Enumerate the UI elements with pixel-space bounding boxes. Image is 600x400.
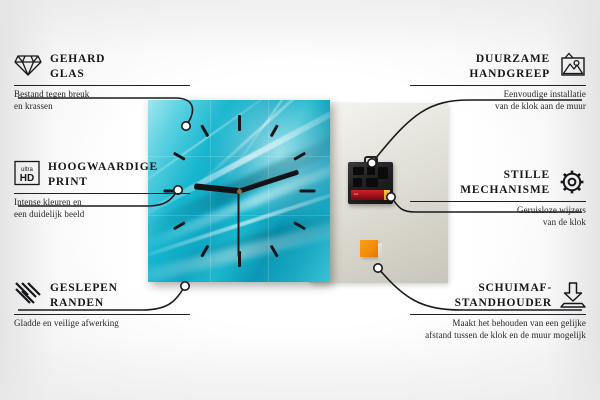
feature-divider — [410, 201, 586, 202]
feature-description: Maakt het behouden van een gelijke afsta… — [410, 318, 586, 342]
feature-divider — [14, 193, 190, 194]
feature-divider — [14, 314, 190, 315]
feature-title: GEHARD GLAS — [50, 52, 105, 82]
infographic-stage: AA — [0, 0, 600, 400]
product-photo: AA — [148, 100, 448, 286]
mechanism-detail — [366, 178, 378, 187]
clock-hub — [237, 189, 242, 194]
feature-divider — [410, 85, 586, 86]
feature-header: GEHARD GLAS — [14, 52, 190, 82]
ultra-hd-icon-bottom-label: HD — [20, 173, 34, 184]
mechanism-detail — [353, 167, 364, 175]
feature-title: STILLE MECHANISME — [460, 168, 550, 198]
feature-header: STILLE MECHANISME — [410, 168, 586, 198]
mechanism-detail — [367, 167, 375, 175]
feature-title: DUURZAME HANDGREEP — [469, 52, 550, 82]
hour-marker — [238, 115, 241, 191]
feature-title: HOOGWAARDIGE PRINT — [48, 160, 158, 190]
feature-divider — [410, 314, 586, 315]
feature-description: Gladde en veilige afwerking — [14, 318, 190, 330]
feature-header: ultra HD HOOGWAARDIGE PRINT — [14, 160, 190, 190]
feature-title: SCHUIMAF- STANDHOUDER — [455, 281, 552, 311]
clock-mechanism: AA — [348, 162, 393, 204]
foam-spacer-pad — [360, 240, 378, 257]
feature-description: Bestand tegen breuk en krassen — [14, 89, 190, 113]
diamond-icon — [14, 52, 42, 78]
battery-positive-terminal — [384, 190, 390, 200]
mechanism-detail — [378, 167, 388, 179]
feature-stille-mechanisme[interactable]: STILLE MECHANISME — [410, 168, 586, 229]
mechanism-body: AA — [348, 162, 393, 204]
press-down-arrow-icon — [560, 281, 586, 309]
gear-icon — [558, 168, 586, 196]
feature-header: DUURZAME HANDGREEP — [410, 52, 586, 82]
feature-title: GESLEPEN RANDEN — [50, 281, 118, 311]
feature-gehard-glas[interactable]: GEHARD GLAS Bestand tegen breuk en krass… — [14, 52, 190, 113]
feature-description: Intense kleuren en een duidelijk beeld — [14, 197, 190, 221]
picture-frame-icon — [558, 52, 586, 78]
feature-schuimafstandhouder[interactable]: SCHUIMAF- STANDHOUDER Maakt het behouden… — [410, 281, 586, 342]
mechanism-detail — [353, 178, 362, 187]
feature-geslepen-randen[interactable]: GESLEPEN RANDEN Gladde en veilige afwerk… — [14, 281, 190, 330]
feature-description: Eenvoudige installatie van de klok aan d… — [410, 89, 586, 113]
feature-header: GESLEPEN RANDEN — [14, 281, 190, 311]
beveled-edges-icon — [14, 281, 42, 305]
ultra-hd-icon: ultra HD — [14, 160, 40, 186]
feature-duurzame-handgreep[interactable]: DUURZAME HANDGREEP Eenvoudige installati… — [410, 52, 586, 113]
feature-divider — [14, 85, 190, 86]
battery: AA — [351, 190, 390, 200]
feature-header: SCHUIMAF- STANDHOUDER — [410, 281, 586, 311]
feature-hoogwaardige-print[interactable]: ultra HD HOOGWAARDIGE PRINT Intense kleu… — [14, 160, 190, 221]
battery-label: AA — [354, 192, 358, 196]
feature-description: Geruisloze wijzers van de klok — [410, 205, 586, 229]
